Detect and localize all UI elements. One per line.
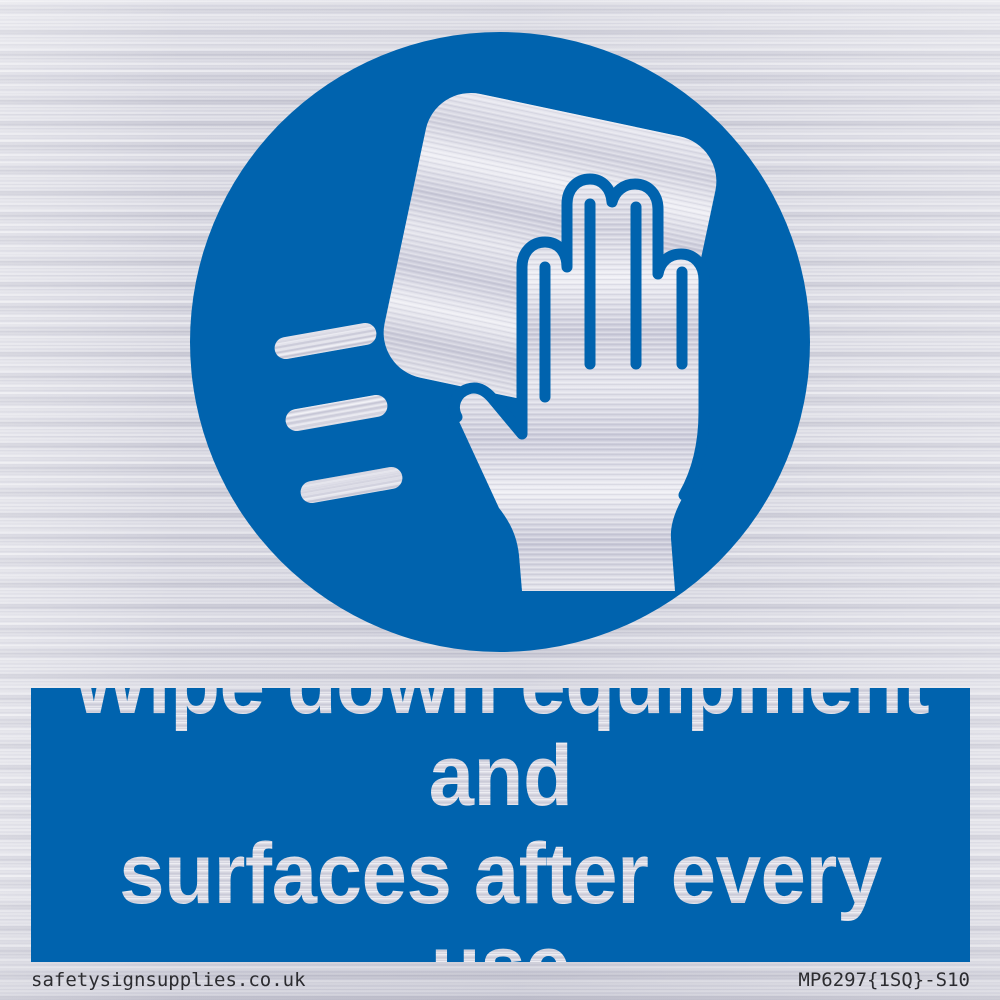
supplier-website: safetysignsupplies.co.uk — [31, 969, 306, 991]
message-line-1: Wipe down equipment and — [54, 688, 946, 822]
footer: safetysignsupplies.co.uk MP6297{1SQ}-S10 — [31, 966, 970, 994]
safety-sign: Wipe down equipment and surfaces after e… — [0, 0, 1000, 1000]
hand-wiping-cloth-pictogram — [190, 32, 810, 652]
product-code: MP6297{1SQ}-S10 — [798, 969, 970, 991]
message-line-2: surfaces after every use — [54, 828, 946, 962]
message-banner: Wipe down equipment and surfaces after e… — [31, 688, 970, 962]
